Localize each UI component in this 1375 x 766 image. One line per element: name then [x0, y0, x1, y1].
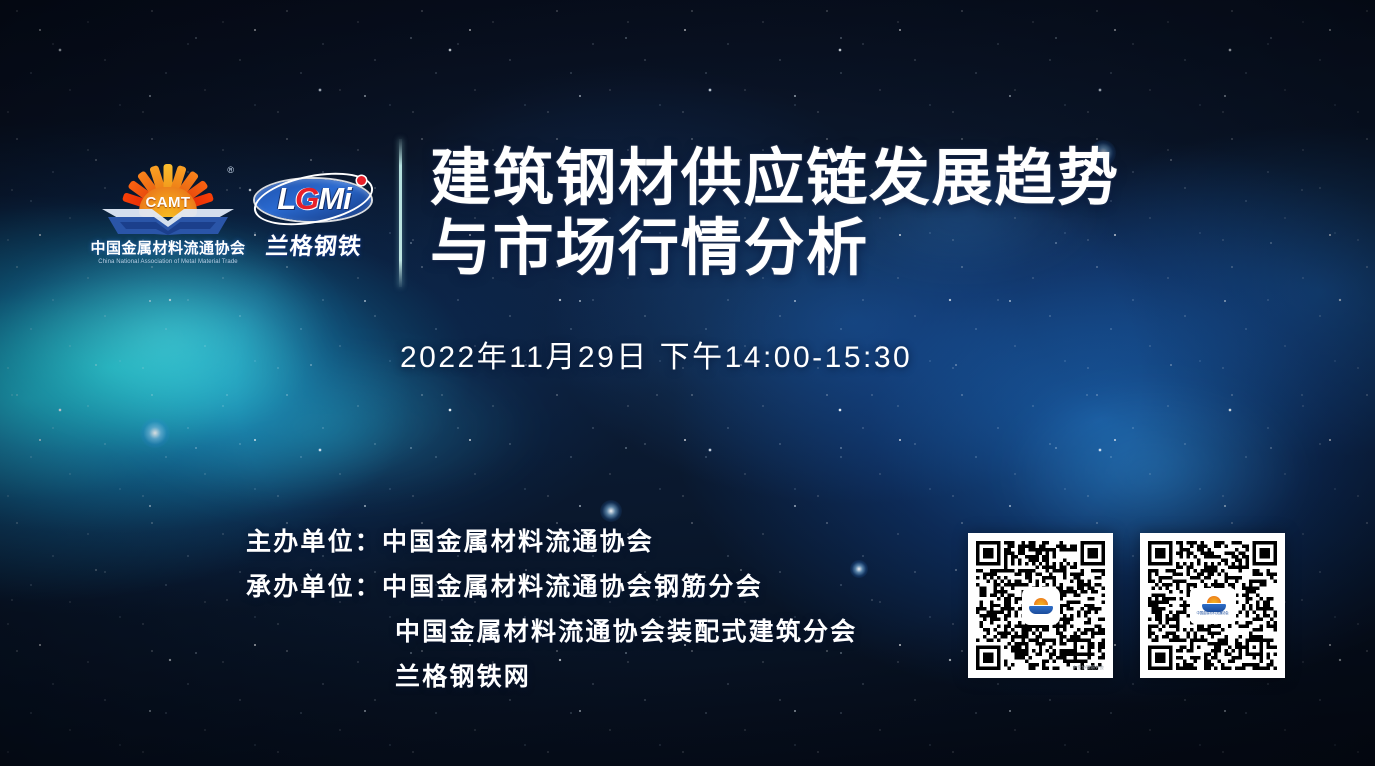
lgmi-emblem-icon: LGMi: [253, 169, 375, 229]
event-datetime: 2022年11月29日 下午14:00-15:30: [400, 332, 912, 376]
organizer-line: 承办单位：中国金属材料流通协会钢筋分会: [246, 565, 1006, 610]
title-line-1: 建筑钢材供应链发展趋势: [430, 144, 1120, 214]
lgmi-logo: LGMi 兰格钢铁: [251, 165, 377, 261]
camt-name-cn: 中国金属材料流通协会: [91, 237, 246, 258]
logo-group: CAMT ® 中国金属材料流通协会 China National Associa…: [95, 161, 377, 265]
camt-association-qr[interactable]: 中国金属材料流通协会: [1140, 533, 1285, 678]
title-line-2: 与市场行情分析: [430, 214, 1120, 284]
organizer-block: 主办单位：中国金属材料流通协会 承办单位：中国金属材料流通协会钢筋分会 中国金属…: [246, 520, 1006, 700]
qr-center-logo: [1024, 589, 1058, 623]
lgmi-name-cn: 兰格钢铁: [264, 227, 364, 261]
title-block: 建筑钢材供应链发展趋势 与市场行情分析: [430, 142, 1134, 284]
camt-emblem-icon: CAMT ®: [100, 161, 236, 235]
qr-code-group: 中金协钢筋分会 中国金属材料流通协会: [968, 533, 1285, 678]
lgmi-letter-m: M: [318, 181, 343, 216]
camt-sun-icon: [1029, 598, 1053, 614]
organizer-line: 主办单位：中国金属材料流通协会: [246, 520, 1006, 565]
camt-name-en: China National Association of Metal Mate…: [98, 259, 237, 265]
wechat-service-account-qr[interactable]: 中金协钢筋分会: [968, 533, 1113, 678]
lgmi-letter-i: i: [343, 181, 351, 216]
qr-center-logo: 中国金属材料流通协会: [1192, 590, 1234, 622]
camt-association-icon: [1202, 596, 1224, 611]
registered-trademark-icon: ®: [227, 165, 234, 175]
camt-logo: CAMT ® 中国金属材料流通协会 China National Associa…: [95, 161, 241, 265]
qr-corner-tag: 中金协钢筋分会: [1073, 665, 1105, 671]
lgmi-wordmark: LGMi: [253, 181, 375, 217]
poster-root: CAMT ® 中国金属材料流通协会 China National Associa…: [0, 0, 1375, 766]
camt-wing-icon: [100, 205, 236, 235]
organizer-line: 中国金属材料流通协会装配式建筑分会: [246, 610, 1006, 655]
vertical-divider: [399, 139, 402, 287]
header-row: CAMT ® 中国金属材料流通协会 China National Associa…: [95, 148, 1225, 278]
lgmi-letter-l: L: [277, 181, 295, 216]
organizer-line: 兰格钢铁网: [246, 655, 1006, 700]
lgmi-letter-g: G: [295, 181, 318, 216]
